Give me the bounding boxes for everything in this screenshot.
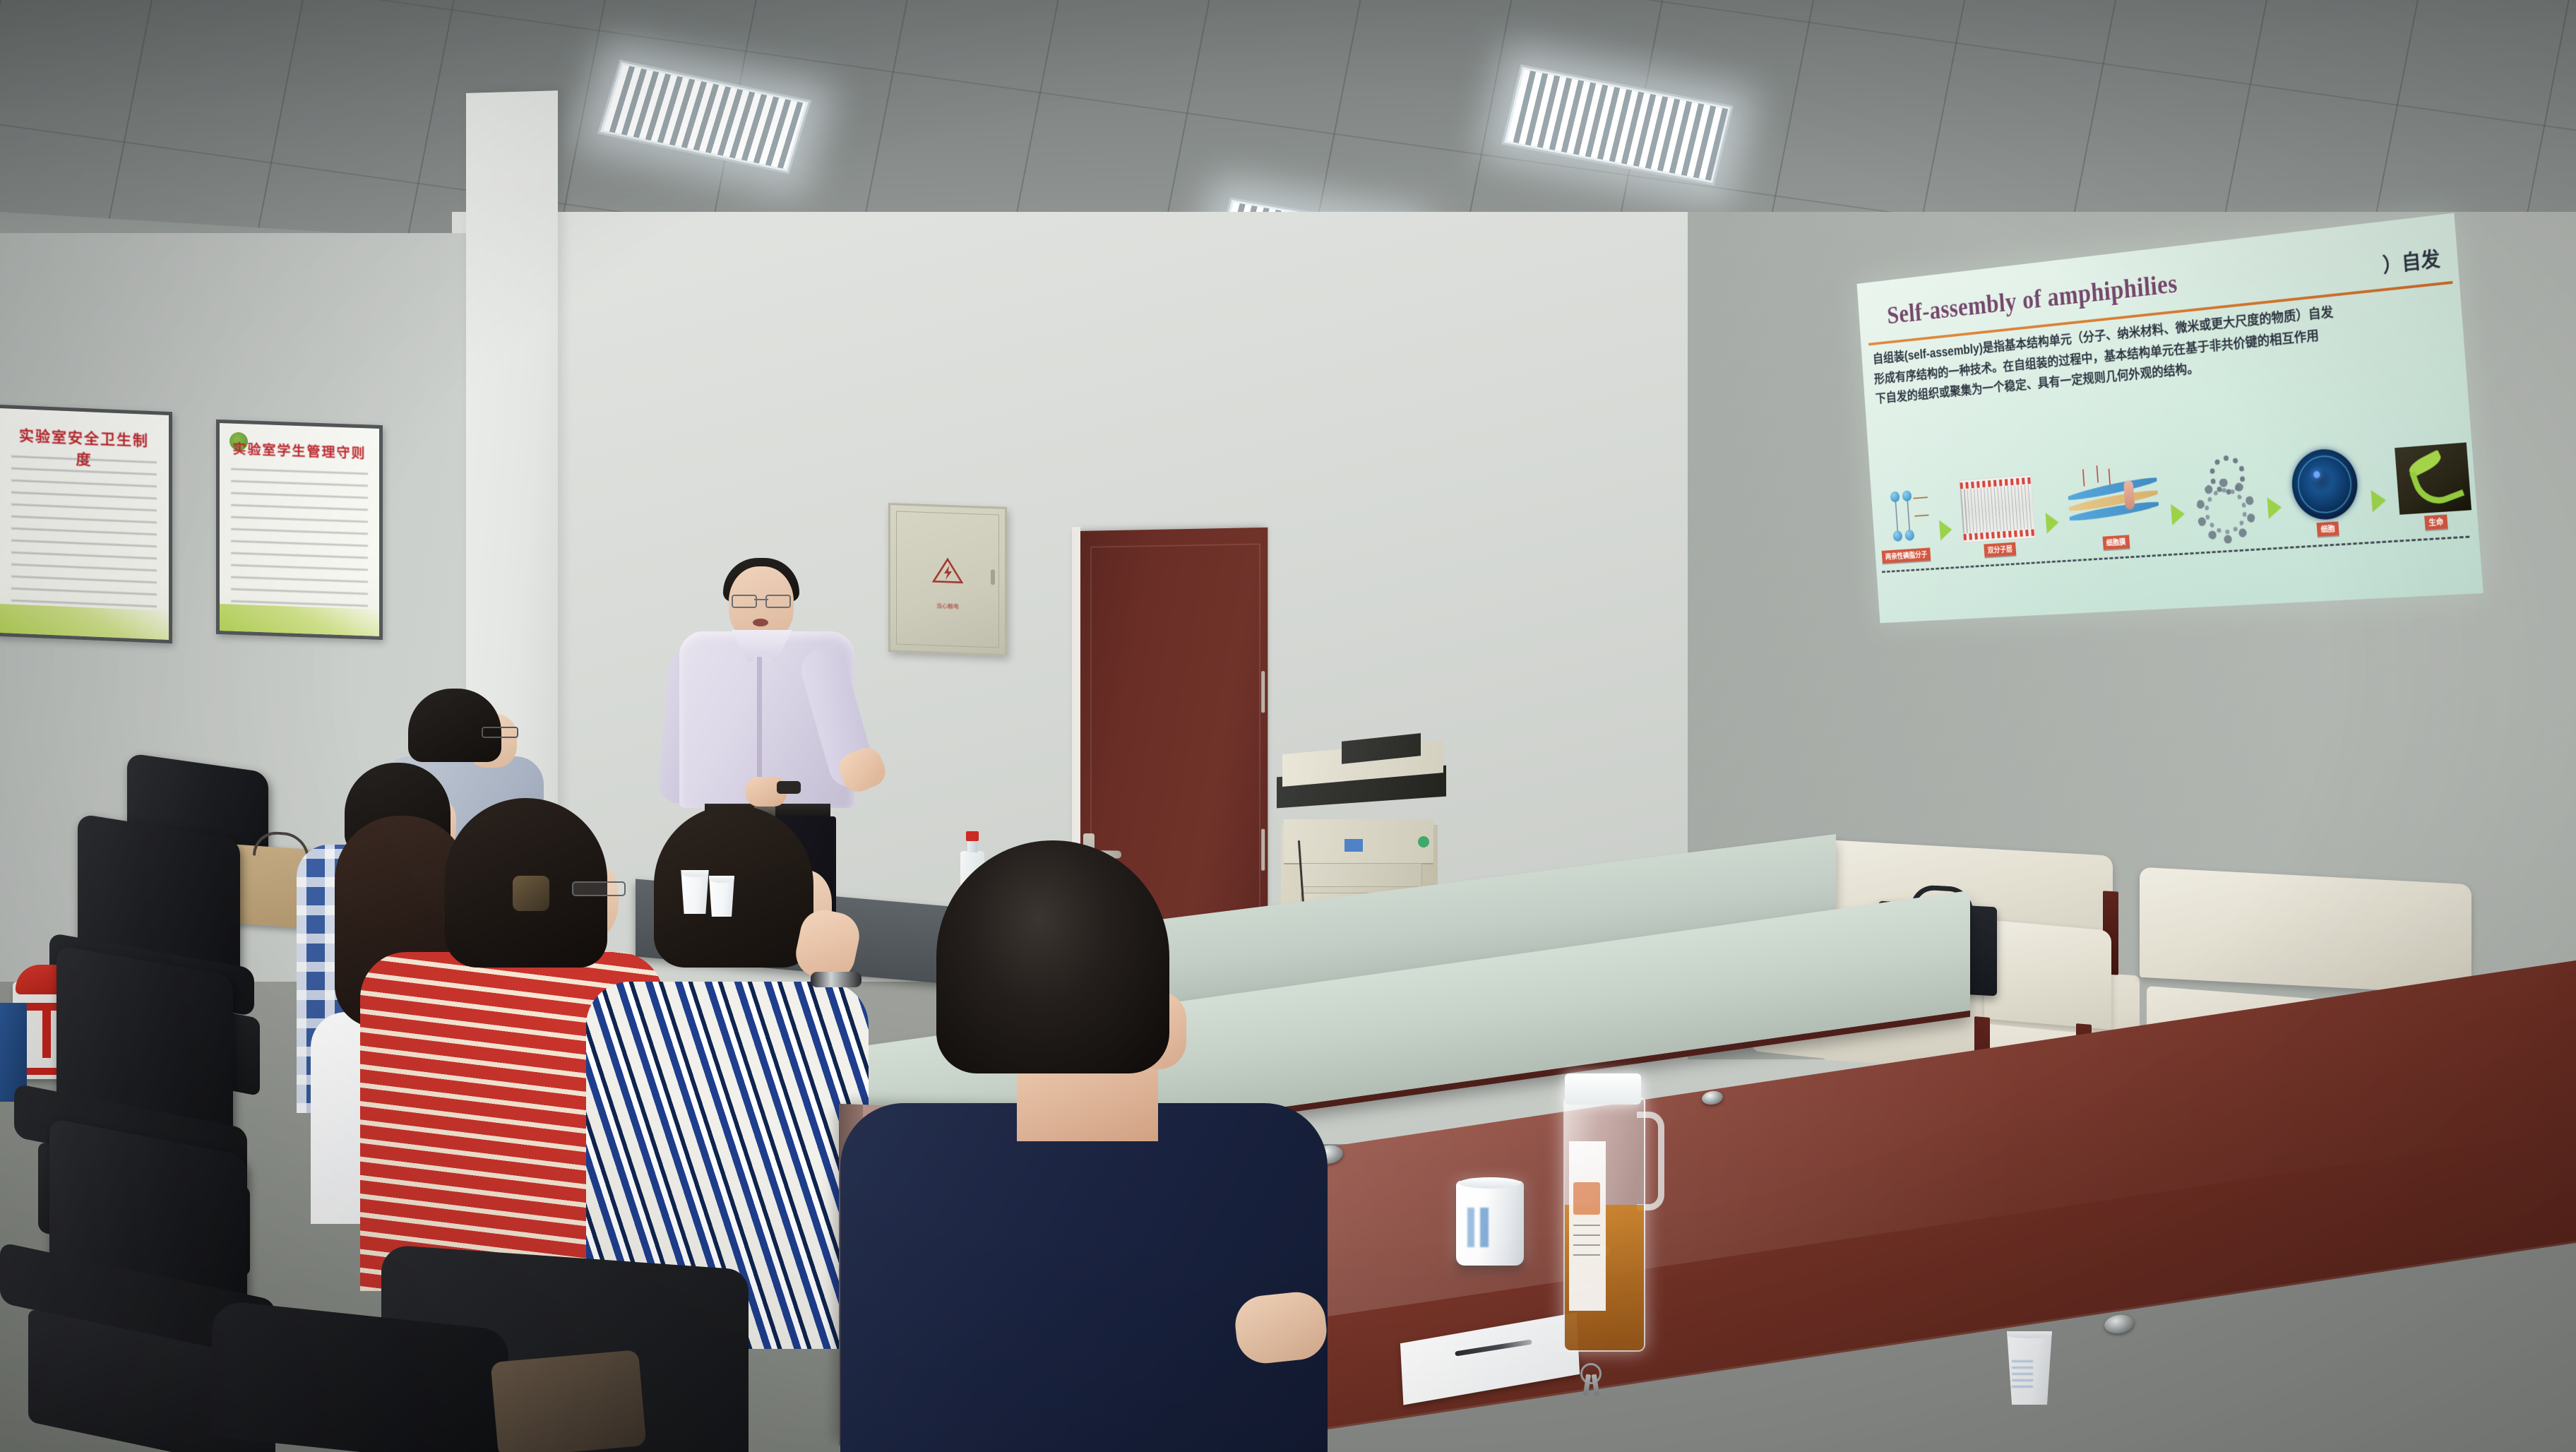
electrical-panel[interactable]: 当心触电 bbox=[888, 503, 1007, 656]
liposome-vesicle-icon bbox=[2194, 477, 2258, 545]
cup-rim bbox=[2003, 1328, 2056, 1338]
chain-node-cell: 细胞 bbox=[2289, 447, 2361, 540]
copier-label-sticker bbox=[1344, 839, 1363, 852]
keys[interactable] bbox=[1575, 1363, 1617, 1396]
chain-arrow-icon bbox=[2267, 496, 2282, 519]
chain-arrow-icon bbox=[2171, 503, 2186, 525]
chain-label: 生命 bbox=[2424, 514, 2448, 531]
chain-arrow-icon bbox=[2371, 489, 2387, 513]
chain-label: 两亲性磷脂分子 bbox=[1882, 547, 1931, 564]
chain-node-membrane: 细胞膜 bbox=[2065, 458, 2161, 553]
lipid-bilayer-icon bbox=[1959, 475, 2035, 543]
poster-heading: 实验室学生管理守则 bbox=[232, 438, 366, 462]
poster-body-text bbox=[231, 465, 368, 607]
chain-node-amphiphile: 两亲性磷脂分子 bbox=[1878, 487, 1931, 565]
high-voltage-warning-icon bbox=[932, 557, 963, 585]
amphiphile-molecule-icon bbox=[1888, 487, 1919, 547]
chain-label: 细胞 bbox=[2317, 521, 2339, 537]
seedling-photo-icon bbox=[2395, 442, 2471, 514]
armchair-backrest bbox=[1984, 920, 2111, 1030]
cell-membrane-icon bbox=[2065, 458, 2160, 536]
door-hinge bbox=[1261, 671, 1265, 713]
poster-body-text bbox=[11, 453, 157, 608]
presenter-mouth bbox=[753, 619, 768, 626]
presentation-clicker[interactable] bbox=[777, 781, 801, 794]
chain-arrow-icon bbox=[2045, 512, 2059, 534]
glasses-icon bbox=[732, 595, 791, 605]
projection-screen: Self-assembly of amphiphilies ）自发 自组装(se… bbox=[1857, 213, 2483, 624]
pitcher-lid[interactable] bbox=[1565, 1073, 1641, 1105]
key-ring bbox=[1580, 1363, 1602, 1384]
chain-label: 双分子层 bbox=[1984, 542, 2016, 559]
bottle-cap[interactable] bbox=[966, 831, 979, 841]
conference-room-photo: 实验室安全卫生制度 实验室学生管理守则 当心触电 bbox=[0, 0, 2576, 1452]
chain-label: 细胞膜 bbox=[2102, 535, 2130, 551]
tea-pitcher[interactable] bbox=[1554, 1073, 1658, 1349]
poster-footer-graphic bbox=[220, 604, 379, 636]
presenter-shirt-placket bbox=[757, 657, 762, 791]
person-torso bbox=[840, 1103, 1328, 1452]
chain-node-bilayer: 双分子层 bbox=[1959, 475, 2037, 559]
slide-title-tail: ）自发 bbox=[2382, 243, 2441, 278]
paper-cup[interactable] bbox=[2002, 1331, 2057, 1405]
chain-node-vesicle bbox=[2194, 477, 2258, 545]
cell-micrograph-icon bbox=[2289, 447, 2360, 522]
hair-clip bbox=[513, 876, 549, 911]
label-swatch bbox=[1573, 1182, 1600, 1215]
lab-safety-hygiene-poster: 实验室安全卫生制度 bbox=[0, 405, 172, 643]
ceramic-mug[interactable] bbox=[1456, 1181, 1524, 1266]
audience-navy-jacket bbox=[840, 840, 1328, 1452]
panel-latch bbox=[991, 569, 995, 585]
mug-print bbox=[1465, 1208, 1504, 1247]
glasses-icon bbox=[482, 727, 518, 738]
handbag[interactable] bbox=[490, 1350, 646, 1452]
cup-print bbox=[2012, 1358, 2033, 1388]
table-cable-grommet bbox=[2103, 1313, 2135, 1335]
pitcher-label bbox=[1569, 1141, 1606, 1311]
chain-arrow-icon bbox=[1939, 519, 1952, 540]
mug-rim bbox=[1459, 1177, 1521, 1189]
copier-start-button[interactable] bbox=[1418, 836, 1429, 847]
person-hair bbox=[408, 689, 501, 762]
chain-node-life: 生命 bbox=[2395, 442, 2473, 532]
person-hair bbox=[936, 840, 1169, 1073]
lab-student-rules-poster: 实验室学生管理守则 bbox=[216, 419, 383, 640]
poster-footer-graphic bbox=[0, 604, 169, 640]
